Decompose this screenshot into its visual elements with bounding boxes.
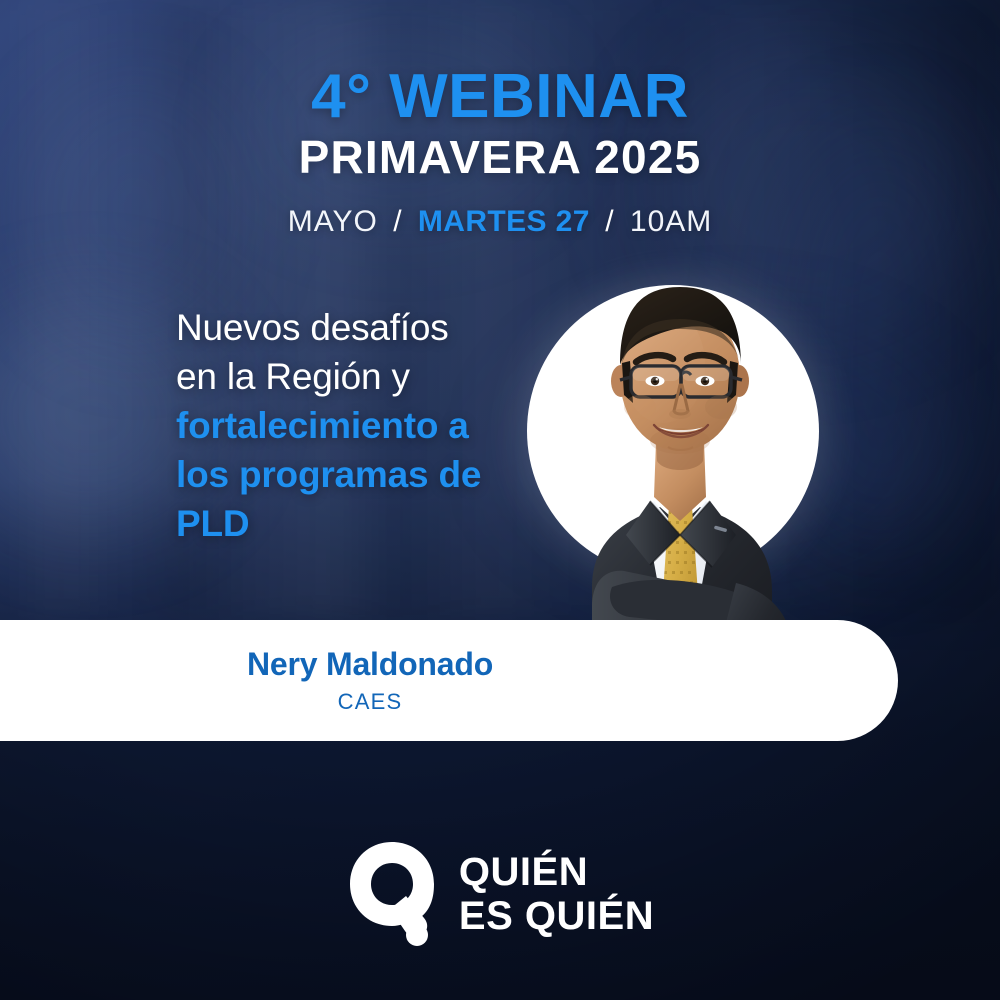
- speaker-info: Nery Maldonado CAES: [0, 620, 740, 741]
- brand-line-2: ES QUIÉN: [459, 896, 654, 937]
- event-day: MARTES 27: [418, 205, 590, 238]
- headline-line: Nuevos desafíos: [176, 303, 536, 352]
- date-separator-1: /: [387, 205, 408, 238]
- event-date-line: MAYO / MARTES 27 / 10AM: [0, 207, 1000, 237]
- season-title: PRIMAVERA 2025: [0, 134, 1000, 180]
- speaker-organization: CAES: [338, 690, 403, 714]
- headline-line: en la Región y: [176, 352, 536, 401]
- brand-wordmark: QUIÉN ES QUIÉN: [459, 852, 654, 937]
- headline-line: los programas de: [176, 450, 536, 499]
- speaker-name: Nery Maldonado: [247, 647, 493, 682]
- headline-line: PLD: [176, 499, 536, 548]
- date-separator-2: /: [599, 205, 620, 238]
- headline-line: fortalecimiento a: [176, 401, 536, 450]
- brand-line-1: QUIÉN: [459, 852, 654, 893]
- webinar-poster: 4° WEBINAR PRIMAVERA 2025 MAYO / MARTES …: [0, 0, 1000, 1000]
- webinar-title: 4° WEBINAR: [0, 66, 1000, 128]
- event-time: 10AM: [630, 205, 712, 238]
- header: 4° WEBINAR PRIMAVERA 2025 MAYO / MARTES …: [0, 0, 1000, 237]
- event-month: MAYO: [288, 205, 378, 238]
- q-question-mark-icon: [346, 838, 438, 951]
- brand-logo: QUIÉN ES QUIÉN: [0, 838, 1000, 951]
- page-title: Nuevos desafíos en la Región y fortaleci…: [176, 303, 536, 548]
